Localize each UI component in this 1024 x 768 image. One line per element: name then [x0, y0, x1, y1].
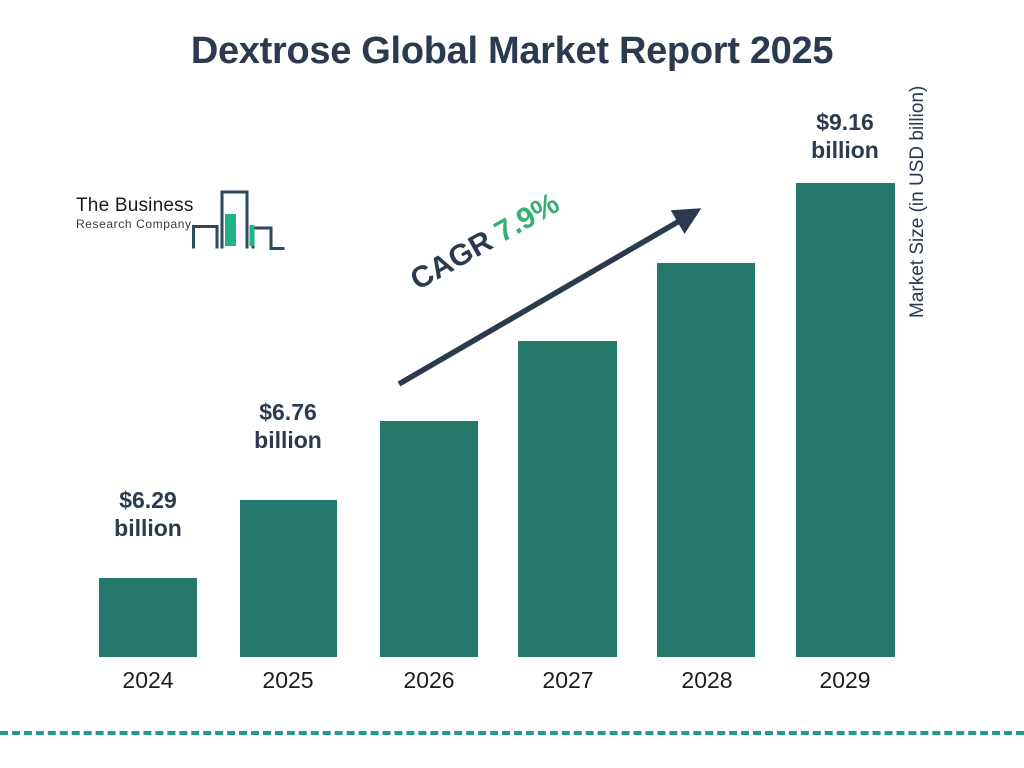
tick-label-2024: 2024 [78, 667, 218, 694]
bar-value-2025-line2: billion [218, 426, 358, 454]
bar-2026[interactable] [380, 421, 478, 657]
bar-value-2029-line2: billion [775, 136, 915, 164]
bar-value-2029-line1: $9.16 [775, 108, 915, 136]
bar-value-2024-line1: $6.29 [78, 486, 218, 514]
bar-value-2024-line2: billion [78, 514, 218, 542]
bar-2024[interactable] [99, 578, 197, 657]
tick-label-2025: 2025 [218, 667, 358, 694]
bar-2025[interactable] [240, 500, 337, 657]
y-axis-title: Market Size (in USD billion) [907, 0, 929, 318]
bar-value-2024: $6.29 billion [78, 486, 218, 542]
chart-canvas: Dextrose Global Market Report 2025 The B… [0, 0, 1024, 768]
tick-label-2026: 2026 [359, 667, 499, 694]
bar-value-2025: $6.76 billion [218, 398, 358, 454]
bar-value-2025-line1: $6.76 [218, 398, 358, 426]
tick-label-2027: 2027 [498, 667, 638, 694]
bar-value-2029: $9.16 billion [775, 108, 915, 164]
tick-label-2029: 2029 [775, 667, 915, 694]
bar-2029[interactable] [796, 183, 895, 657]
footer-divider [0, 731, 1024, 735]
tick-label-2028: 2028 [637, 667, 777, 694]
